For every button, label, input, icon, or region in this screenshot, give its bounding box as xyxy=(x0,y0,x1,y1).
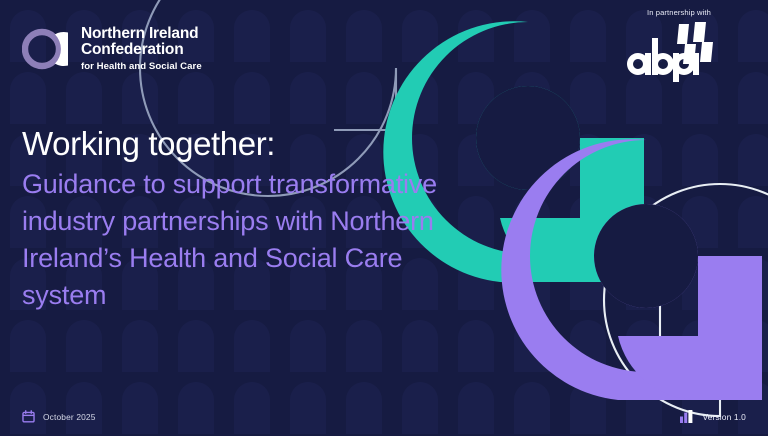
a-mark-purple xyxy=(501,139,762,400)
nicon-logo-line2: Confederation xyxy=(81,42,202,58)
cover-page: Northern Ireland Confederation for Healt… xyxy=(0,0,768,436)
nicon-logo-line1: Northern Ireland xyxy=(81,26,202,42)
calendar-icon xyxy=(22,410,35,423)
crescent-circle-logo-icon xyxy=(22,26,68,72)
nicon-logo-text: Northern Ireland Confederation for Healt… xyxy=(81,26,202,72)
headline-main: Working together: xyxy=(22,124,462,164)
abpi-wordmark xyxy=(621,20,737,82)
nicon-logo-line3: for Health and Social Care xyxy=(81,62,202,72)
footer-version-label: Version 1.0 xyxy=(702,412,746,422)
nicon-logo: Northern Ireland Confederation for Healt… xyxy=(22,26,202,72)
partner-logo: In partnership with xyxy=(614,8,744,82)
bar-levels-icon xyxy=(680,410,695,423)
page-title: Working together: Guidance to support tr… xyxy=(22,124,462,314)
partner-kicker: In partnership with xyxy=(647,8,711,17)
footer-date: October 2025 xyxy=(22,410,96,423)
a-mark-outline-light xyxy=(604,184,768,416)
footer-date-label: October 2025 xyxy=(43,412,96,422)
headline-subtitle: Guidance to support transformative indus… xyxy=(22,166,462,314)
footer-version: Version 1.0 xyxy=(680,410,746,423)
